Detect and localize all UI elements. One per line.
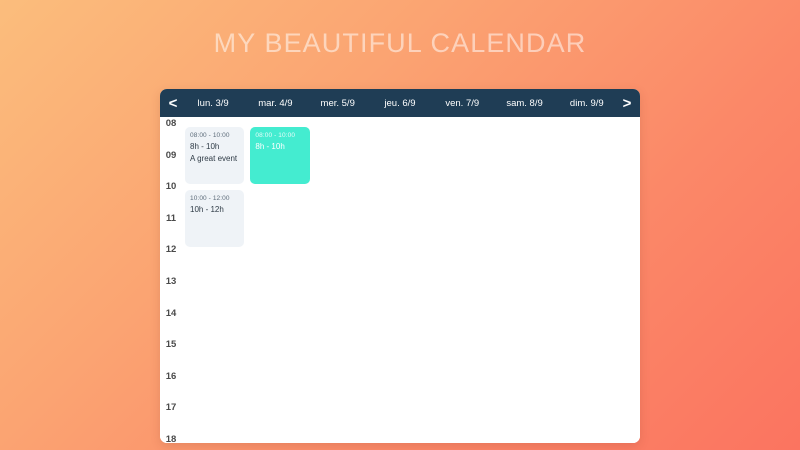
page-title: MY BEAUTIFUL CALENDAR (0, 28, 800, 59)
app-root: MY BEAUTIFUL CALENDAR < lun. 3/9mar. 4/9… (0, 0, 800, 450)
hour-label-09: 09 (160, 151, 182, 161)
day-column-5[interactable] (509, 117, 574, 443)
day-column-3[interactable] (378, 117, 443, 443)
calendar-widget: < lun. 3/9mar. 4/9mer. 5/9jeu. 6/9ven. 7… (160, 89, 640, 443)
day-header-5[interactable]: sam. 8/9 (493, 98, 555, 109)
day-grid[interactable]: 08:00 - 10:008h - 10hA great event10:00 … (182, 117, 640, 443)
calendar-event[interactable]: 10:00 - 12:0010h - 12h (185, 190, 244, 247)
day-column-4[interactable] (444, 117, 509, 443)
hour-label-16: 16 (160, 372, 182, 382)
day-header-3[interactable]: jeu. 6/9 (369, 98, 431, 109)
day-column-1[interactable]: 08:00 - 10:008h - 10h (247, 117, 312, 443)
hour-label-10: 10 (160, 182, 182, 192)
day-header-4[interactable]: ven. 7/9 (431, 98, 493, 109)
calendar-body: 0809101112131415161718 08:00 - 10:008h -… (160, 117, 640, 443)
hour-label-15: 15 (160, 340, 182, 350)
event-title: A great event (190, 153, 239, 165)
event-short-range: 8h - 10h (190, 141, 239, 153)
hour-label-11: 11 (160, 214, 182, 224)
event-short-range: 10h - 12h (190, 204, 239, 216)
hour-label-12: 12 (160, 245, 182, 255)
calendar-header: < lun. 3/9mar. 4/9mer. 5/9jeu. 6/9ven. 7… (160, 89, 640, 117)
event-time-range: 08:00 - 10:00 (255, 131, 304, 141)
calendar-event[interactable]: 08:00 - 10:008h - 10h (250, 127, 309, 184)
hour-label-13: 13 (160, 277, 182, 287)
hour-label-08: 08 (160, 119, 182, 129)
day-header-2[interactable]: mer. 5/9 (307, 98, 369, 109)
day-column-0[interactable]: 08:00 - 10:008h - 10hA great event10:00 … (182, 117, 247, 443)
day-header-1[interactable]: mar. 4/9 (244, 98, 306, 109)
event-short-range: 8h - 10h (255, 141, 304, 153)
event-time-range: 08:00 - 10:00 (190, 131, 239, 141)
hour-label-17: 17 (160, 403, 182, 413)
hours-column: 0809101112131415161718 (160, 117, 182, 443)
event-time-range: 10:00 - 12:00 (190, 194, 239, 204)
chevron-right-icon[interactable]: > (618, 96, 636, 111)
hour-label-14: 14 (160, 309, 182, 319)
day-header-6[interactable]: dim. 9/9 (556, 98, 618, 109)
hour-label-18: 18 (160, 435, 182, 443)
calendar-event[interactable]: 08:00 - 10:008h - 10hA great event (185, 127, 244, 184)
chevron-left-icon[interactable]: < (164, 96, 182, 111)
day-column-2[interactable] (313, 117, 378, 443)
day-header-0[interactable]: lun. 3/9 (182, 98, 244, 109)
day-header-row: lun. 3/9mar. 4/9mer. 5/9jeu. 6/9ven. 7/9… (182, 89, 618, 117)
day-column-6[interactable] (575, 117, 640, 443)
